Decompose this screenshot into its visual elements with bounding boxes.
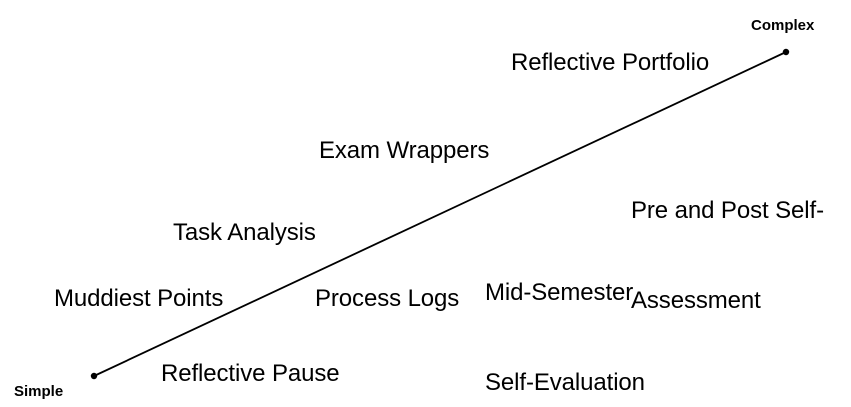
item-label-mid-semester-self-evaluation: Mid-Semester Self-Evaluation bbox=[485, 218, 645, 407]
item-label-line-2: Assessment bbox=[631, 286, 824, 316]
axis-end-label-complex: Complex bbox=[751, 17, 814, 35]
continuum-diagram: Complex Simple Reflective Portfolio Exam… bbox=[0, 0, 851, 407]
axis-end-dot bbox=[783, 49, 789, 55]
item-label-exam-wrappers: Exam Wrappers bbox=[319, 136, 489, 166]
item-label-reflective-pause: Reflective Pause bbox=[161, 359, 340, 389]
axis-start-label-simple: Simple bbox=[14, 383, 63, 401]
item-label-line-1: Mid-Semester bbox=[485, 278, 645, 308]
item-label-line-1: Pre and Post Self- bbox=[631, 196, 824, 226]
item-label-process-logs: Process Logs bbox=[315, 284, 459, 314]
item-label-line-2: Self-Evaluation bbox=[485, 368, 645, 398]
item-label-reflective-portfolio: Reflective Portfolio bbox=[511, 48, 709, 78]
item-label-task-analysis: Task Analysis bbox=[173, 218, 316, 248]
item-label-muddiest-points: Muddiest Points bbox=[54, 284, 223, 314]
axis-start-dot bbox=[91, 373, 97, 379]
item-label-pre-and-post-self-assessment: Pre and Post Self- Assessment bbox=[631, 136, 824, 376]
